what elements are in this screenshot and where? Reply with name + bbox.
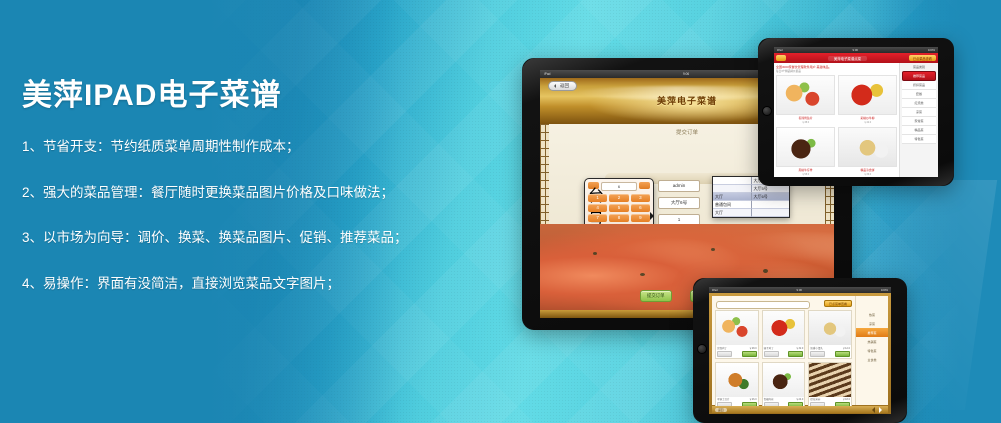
br-status-carrier: iPad: [712, 288, 718, 292]
home-button[interactable]: [762, 106, 772, 116]
keypad-key[interactable]: 7: [588, 214, 607, 222]
dish-card[interactable]: 彩椒炒牛柳 ￥42.0: [838, 75, 897, 124]
category-item[interactable]: 精品菜: [902, 126, 936, 135]
tr-toolbar-title: 美萍电子菜谱点菜: [828, 56, 867, 61]
dish-card[interactable]: 精品冷盘拼 ￥36.0: [838, 127, 897, 176]
dish-add-button[interactable]: [788, 351, 803, 357]
table-row[interactable]: 大厅5号: [713, 185, 789, 193]
page-title: 美萍IPAD电子菜谱: [22, 70, 442, 114]
table-row[interactable]: 大厅: [713, 209, 789, 217]
tr-status-battery: 100%: [928, 48, 935, 52]
tr-sidebar-header: 菜品类别: [902, 65, 936, 69]
tr-promo-subtext: 每日3个精品特价菜品: [776, 70, 897, 74]
br-dish-grid: 宫保鸡丁 ￥28.0: [715, 310, 852, 410]
dish-photo: [838, 75, 897, 115]
br-gold-frame: 已点菜单查看 宫保鸡丁 ￥28.0: [709, 293, 891, 414]
tr-promo-note: 全国3000家餐饮管理软件用户 美滋味品。 每日3个精品特价菜品: [776, 65, 897, 73]
dish-price: ￥58.0: [776, 172, 835, 176]
tr-status-time: 9:06: [853, 48, 858, 52]
dish-actions: [716, 350, 758, 358]
table-cell-room: 大厅6号: [752, 193, 790, 201]
dish-card[interactable]: 干锅土豆片 ￥26.0: [715, 362, 759, 411]
table-cell-room: 大厅5号: [752, 185, 790, 193]
dish-price: ￥26.0: [749, 397, 756, 401]
keypad-display[interactable]: 6: [601, 182, 637, 191]
dish-price: ￥42.0: [838, 120, 897, 124]
search-input[interactable]: [716, 301, 810, 309]
category-item[interactable]: 热菜: [856, 310, 888, 319]
feature-bullet-4: 4、易操作：界面有没简洁，直接浏览菜品文字图片；: [22, 277, 442, 291]
keypad-delete-key[interactable]: [639, 182, 650, 189]
br-category-sidebar: 热菜 凉菜 推荐菜 热销菜 特色菜 主食类: [855, 296, 888, 405]
dish-add-button[interactable]: [835, 351, 850, 357]
table-cell-room: [752, 201, 790, 209]
category-item-recommended[interactable]: 推荐菜: [856, 328, 888, 337]
dish-detail-button[interactable]: [764, 351, 779, 357]
menu-icon[interactable]: [776, 55, 786, 61]
dish-price: ￥36.0: [838, 172, 897, 176]
submit-order-button[interactable]: 提交订单: [640, 290, 672, 302]
tr-red-toolbar: 美萍电子菜谱点菜 已点菜品查看: [774, 53, 938, 63]
keypad-key[interactable]: 5: [609, 204, 628, 212]
category-item[interactable]: 折扣菜品: [902, 81, 936, 90]
promo-banner: 美萍IPAD电子菜谱 1、节省开支：节约纸质菜单周期性制作成本； 2、强大的菜品…: [0, 0, 1001, 423]
category-item[interactable]: 凉菜: [902, 108, 936, 117]
dish-name: 提拉米苏: [810, 397, 820, 401]
table-cell-area: [713, 177, 752, 185]
feature-bullet-3: 3、以市场为向导：调价、换菜、换菜品图片、促销、推荐菜品；: [22, 231, 442, 245]
br-dish-area: 宫保鸡丁 ￥28.0: [712, 296, 855, 405]
keypad-key[interactable]: 2: [609, 194, 628, 202]
category-item[interactable]: 凉菜: [856, 319, 888, 328]
keypad-input-row: 台号 6: [588, 182, 650, 191]
table-cell-room: [752, 209, 790, 217]
tr-body: 全国3000家餐饮管理软件用户 美滋味品。 每日3个精品特价菜品 香辣烤鱼片 ￥…: [774, 63, 938, 177]
dish-price: ￥18.0: [843, 397, 850, 401]
keypad-key[interactable]: 6: [631, 204, 650, 212]
keypad-key[interactable]: 1: [588, 194, 607, 202]
username-field[interactable]: admin: [658, 180, 700, 192]
dish-detail-button[interactable]: [810, 351, 825, 357]
dish-photo: [809, 311, 851, 345]
dish-price: ￥28.0: [749, 346, 756, 350]
dish-add-button[interactable]: [742, 351, 757, 357]
br-status-time: 9:06: [797, 288, 802, 292]
table-row-selected[interactable]: 大厅 大厅6号: [713, 193, 789, 201]
dish-card[interactable]: 提拉米苏 ￥18.0: [808, 362, 852, 411]
category-item[interactable]: 红烧类: [902, 99, 936, 108]
dish-photo: [763, 363, 805, 397]
tr-dish-grid: 香辣烤鱼片 ￥38.0 彩椒炒牛柳 ￥42.0 黑椒牛仔骨 ￥58.0: [776, 75, 897, 176]
tablet-topright-device: iPad 9:06 100% 美萍电子菜谱点菜 已点菜品查看 全国3000家餐饮…: [758, 38, 954, 186]
tablet-bottomright-screen: iPad 9:06 100% 已点菜单查看 宫保鸡丁: [709, 287, 891, 414]
dish-card[interactable]: 奶香小馒头 ￥12.0: [808, 310, 852, 359]
tr-promo-text: 全国3000家餐饮管理软件用户 美滋味品。: [776, 65, 832, 69]
view-ordered-button[interactable]: 已点菜品查看: [909, 55, 936, 61]
dish-name: 干锅土豆片: [717, 397, 730, 401]
dish-card[interactable]: 黑椒牛仔骨 ￥58.0: [776, 127, 835, 176]
br-footer-bar: 返回: [712, 406, 888, 413]
hero-copy: 美萍IPAD电子菜谱 1、节省开支：节约纸质菜单周期性制作成本； 2、强大的菜品…: [22, 70, 442, 322]
dish-actions: [809, 350, 851, 358]
dish-card[interactable]: 宫保鸡丁 ￥28.0: [715, 310, 759, 359]
pointer-arrow-icon: [650, 212, 658, 220]
keypad-key[interactable]: 4: [588, 204, 607, 212]
category-item[interactable]: 热销菜: [856, 337, 888, 346]
dish-price: ￥12.0: [843, 346, 850, 350]
footer-back-button[interactable]: 返回: [715, 408, 727, 412]
keypad-key[interactable]: 3: [631, 194, 650, 202]
table-cell-area: 普通包间: [713, 201, 752, 209]
home-button[interactable]: [697, 344, 707, 354]
feature-bullet-2: 2、强大的菜品管理：餐厅随时更换菜品图片价格及口味做法；: [22, 186, 442, 200]
view-order-button[interactable]: 已点菜单查看: [824, 300, 852, 307]
dish-detail-button[interactable]: [717, 351, 732, 357]
keypad-label: 台号: [588, 182, 599, 189]
table-cell-area: 大厅: [713, 193, 752, 201]
keypad-key[interactable]: 9: [631, 214, 650, 222]
br-status-battery: 100%: [881, 288, 888, 292]
dish-photo: [763, 311, 805, 345]
tr-dish-area: 全国3000家餐饮管理软件用户 美滋味品。 每日3个精品特价菜品 香辣烤鱼片 ￥…: [774, 63, 899, 177]
feature-bullet-1: 1、节省开支：节约纸质菜单周期性制作成本；: [22, 140, 442, 154]
main-status-carrier: iPad: [544, 72, 550, 76]
dish-photo: [838, 127, 897, 167]
category-item[interactable]: 家常菜: [902, 117, 936, 126]
dish-name: 奶香小馒头: [810, 346, 823, 350]
tr-status-carrier: iPad: [777, 48, 783, 52]
dish-price: ￥38.0: [776, 120, 835, 124]
main-status-time: 9:06: [683, 72, 689, 76]
prev-arrow-icon[interactable]: [869, 407, 875, 413]
br-pagination: [869, 407, 885, 413]
tablet-topright-screen: iPad 9:06 100% 美萍电子菜谱点菜 已点菜品查看 全国3000家餐饮…: [774, 47, 938, 177]
dish-name: 辣子鸡丁: [764, 346, 774, 350]
category-item[interactable]: 套餐: [902, 90, 936, 99]
next-arrow-icon[interactable]: [879, 407, 885, 413]
dish-photo: [776, 75, 835, 115]
dish-photo: [776, 127, 835, 167]
table-row[interactable]: 普通包间: [713, 201, 789, 209]
dish-price: ￥32.0: [796, 346, 803, 350]
dish-card[interactable]: 辣子鸡丁 ￥32.0: [762, 310, 806, 359]
dish-price: ￥24.0: [796, 397, 803, 401]
category-item[interactable]: 主食类: [856, 355, 888, 364]
tr-category-sidebar: 菜品类别 推荐菜品 折扣菜品 套餐 红烧类 凉菜 家常菜 精品菜 特色菜: [899, 63, 938, 177]
category-item-recommended[interactable]: 推荐菜品: [902, 71, 936, 81]
table-field[interactable]: 大厅6号: [658, 197, 700, 209]
dish-photo: [716, 363, 758, 397]
tablet-bottomright-device: iPad 9:06 100% 已点菜单查看 宫保鸡丁: [693, 278, 907, 423]
back-button[interactable]: 返回: [548, 81, 577, 91]
dish-name: 宫保鸡丁: [717, 346, 727, 350]
table-cell-area: 大厅: [713, 209, 752, 217]
category-item[interactable]: 特色菜: [856, 346, 888, 355]
dish-photo: [716, 311, 758, 345]
dish-card[interactable]: 香辣烤鱼片 ￥38.0: [776, 75, 835, 124]
table-cell-area: [713, 185, 752, 193]
dish-actions: [763, 350, 805, 358]
br-inner-panel: 已点菜单查看 宫保鸡丁 ￥28.0: [712, 296, 888, 405]
dish-photo: [809, 363, 851, 397]
dish-name: 青椒肉丝: [764, 397, 774, 401]
category-item[interactable]: 特色菜: [902, 135, 936, 144]
keypad-key[interactable]: 8: [609, 214, 628, 222]
dish-card[interactable]: 青椒肉丝 ￥24.0: [762, 362, 806, 411]
